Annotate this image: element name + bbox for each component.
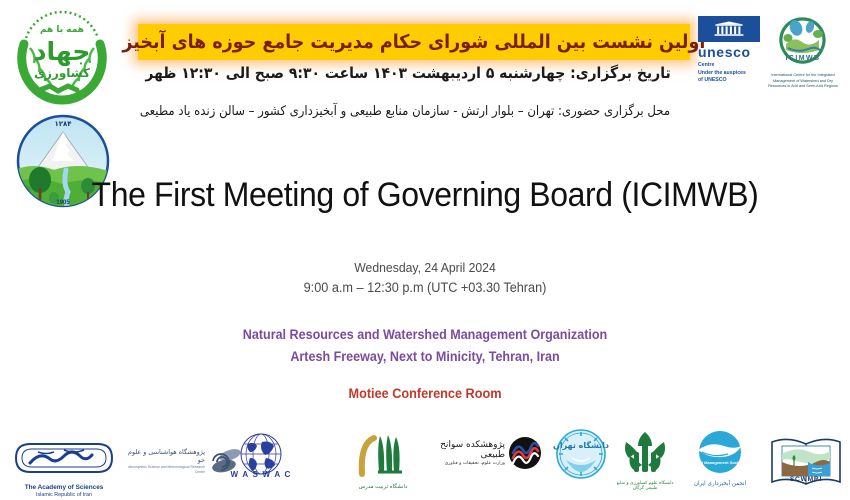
jahad-top-label: همه با هم <box>40 25 84 35</box>
page-title: The First Meeting of Governing Board (IC… <box>26 176 825 215</box>
natural-disaster-institute-logo: پژوهشکده سوانح طبیعی وزارت علوم، تحقیقات… <box>420 436 542 470</box>
banner-title-fa: اولین نشست بین المللی شورای حکام مدیریت … <box>123 31 706 53</box>
unesco-subtitle: Centre Under the auspices of UNESCO <box>698 62 760 85</box>
seal-year-fa: ۱۲۸۴ <box>54 120 72 128</box>
academy-of-sciences-logo: The Academy of Sciences Islamic Republic… <box>8 438 120 498</box>
disaster-institute-caption-sub: وزارت علوم، تحقیقات و فناوری <box>420 461 505 466</box>
unesco-temple-icon <box>698 16 760 42</box>
university-of-tehran-logo: دانشگاه تهران <box>552 428 610 485</box>
icimwb-acronym: ICIMWB <box>786 55 821 62</box>
meeting-date: Wednesday, 24 April 2024 <box>26 258 825 278</box>
watershed-society-logo: Watershed Management Society of Iran انج… <box>686 430 754 487</box>
scwmri-caption: SCWMRI <box>790 476 822 483</box>
icimwb-logo: ICIMWB International Centre for the Inte… <box>766 14 840 90</box>
waswac-caption: W A S W A C <box>231 470 292 478</box>
academy-caption-2: Islamic Republic of Iran <box>8 492 120 498</box>
agri-university-caption: دانشگاه علوم کشاورزی و منابع طبیعی گرگان <box>614 481 676 491</box>
header-banner: اولین نشست بین المللی شورای حکام مدیریت … <box>138 24 690 60</box>
icimwb-subtitle: International Centre for the Integrated … <box>766 73 840 90</box>
watershed-society-caption-en: Watershed Management Society of Iran <box>686 460 754 465</box>
meeting-time: 9:00 a.m – 12:30 p.m (UTC +03.30 Tehran) <box>26 278 825 299</box>
header-date-fa: تاریخ برگزاری: چهارشنبه ۵ اردیبهشت ۱۴۰۳ … <box>157 64 670 82</box>
unesco-wordmark: unesco <box>698 44 760 60</box>
venue-organization: Natural Resources and Watershed Manageme… <box>30 324 821 346</box>
tarbiat-modares-logo: دانشگاه تربیت مدرس <box>352 430 414 490</box>
meteorology-caption-en: Atmospheric Science and Meteorological R… <box>126 465 205 475</box>
waswac-logo: W A S W A C <box>224 432 298 483</box>
meeting-room: Motiee Conference Room <box>26 386 825 401</box>
jahad-main-label: جهاد <box>34 37 91 67</box>
conference-poster: همه با هم جهاد کشاورزی <box>0 0 850 500</box>
tehran-univ-caption: دانشگاه تهران <box>553 440 609 450</box>
disaster-institute-caption-fa: پژوهشکده سوانح طبیعی <box>420 440 505 460</box>
watershed-society-caption-fa: انجمن آبخیزداری ایران <box>686 481 754 487</box>
venue-address: Artesh Freeway, Next to Minicity, Tehran… <box>30 346 821 368</box>
jahad-sub-label: کشاورزی <box>34 66 90 81</box>
meeting-datetime: Wednesday, 24 April 2024 9:00 a.m – 12:3… <box>26 258 825 299</box>
sponsor-logo-strip: The Academy of Sciences Islamic Republic… <box>0 424 850 500</box>
jahad-keshavarzi-logo: همه با هم جهاد کشاورزی <box>10 4 114 106</box>
scwmri-logo: SCWMRI <box>768 432 844 493</box>
header-venue-fa: محل برگزاری حضوری: تهران – بلوار ارتش - … <box>140 104 671 119</box>
academy-caption-1: The Academy of Sciences <box>8 484 120 491</box>
disaster-institute-icon <box>508 436 542 470</box>
meteorology-caption-fa: پژوهشگاه هواشناسی و علوم جو <box>126 448 205 464</box>
meeting-venue: Natural Resources and Watershed Manageme… <box>30 324 821 368</box>
unesco-logo: unesco Centre Under the auspices of UNES… <box>698 16 760 85</box>
tarbiat-modares-caption: دانشگاه تربیت مدرس <box>352 484 414 490</box>
agricultural-university-logo: دانشگاه علوم کشاورزی و منابع طبیعی گرگان <box>614 430 676 491</box>
